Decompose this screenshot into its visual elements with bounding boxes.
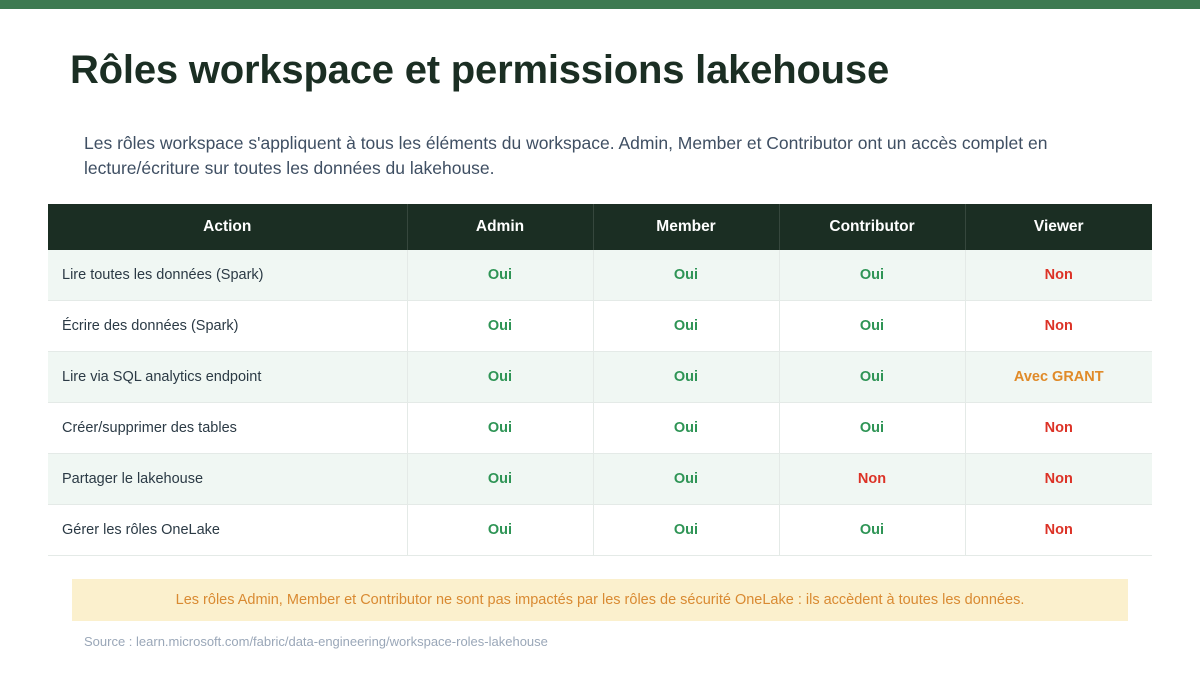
column-header-action: Action [48, 204, 407, 250]
cell-member: Oui [593, 301, 779, 352]
cell-member: Oui [593, 352, 779, 403]
table-row: Lire via SQL analytics endpoint Oui Oui … [48, 352, 1152, 403]
cell-member: Oui [593, 505, 779, 556]
slide-subtitle: Les rôles workspace s'appliquent à tous … [84, 131, 1094, 181]
cell-admin: Oui [407, 352, 593, 403]
top-accent-bar [0, 0, 1200, 9]
cell-admin: Oui [407, 403, 593, 454]
cell-member: Oui [593, 454, 779, 505]
cell-contributor: Oui [779, 352, 965, 403]
cell-viewer: Non [965, 454, 1152, 505]
column-header-contributor: Contributor [779, 204, 965, 250]
cell-contributor: Oui [779, 250, 965, 301]
slide-content: Rôles workspace et permissions lakehouse… [0, 9, 1200, 675]
cell-viewer: Avec GRANT [965, 352, 1152, 403]
cell-contributor: Oui [779, 505, 965, 556]
cell-action: Écrire des données (Spark) [48, 301, 407, 352]
column-header-member: Member [593, 204, 779, 250]
cell-action: Lire via SQL analytics endpoint [48, 352, 407, 403]
permissions-table: Action Admin Member Contributor Viewer L… [48, 204, 1152, 556]
note-text: Les rôles Admin, Member et Contributor n… [176, 591, 1025, 610]
page-title: Rôles workspace et permissions lakehouse [70, 47, 1130, 93]
table-row: Écrire des données (Spark) Oui Oui Oui N… [48, 301, 1152, 352]
cell-member: Oui [593, 403, 779, 454]
table-header: Action Admin Member Contributor Viewer [48, 204, 1152, 250]
cell-admin: Oui [407, 505, 593, 556]
table-body: Lire toutes les données (Spark) Oui Oui … [48, 250, 1152, 556]
source-citation: Source : learn.microsoft.com/fabric/data… [84, 634, 548, 649]
cell-action: Créer/supprimer des tables [48, 403, 407, 454]
table-row: Créer/supprimer des tables Oui Oui Oui N… [48, 403, 1152, 454]
cell-action: Lire toutes les données (Spark) [48, 250, 407, 301]
cell-action: Gérer les rôles OneLake [48, 505, 407, 556]
column-header-admin: Admin [407, 204, 593, 250]
cell-admin: Oui [407, 250, 593, 301]
cell-contributor: Non [779, 454, 965, 505]
cell-member: Oui [593, 250, 779, 301]
table-header-row: Action Admin Member Contributor Viewer [48, 204, 1152, 250]
note-callout: Les rôles Admin, Member et Contributor n… [72, 579, 1128, 621]
cell-action: Partager le lakehouse [48, 454, 407, 505]
column-header-viewer: Viewer [965, 204, 1152, 250]
cell-contributor: Oui [779, 301, 965, 352]
cell-contributor: Oui [779, 403, 965, 454]
cell-admin: Oui [407, 301, 593, 352]
table-row: Partager le lakehouse Oui Oui Non Non [48, 454, 1152, 505]
cell-viewer: Non [965, 403, 1152, 454]
cell-viewer: Non [965, 505, 1152, 556]
table-row: Lire toutes les données (Spark) Oui Oui … [48, 250, 1152, 301]
table-row: Gérer les rôles OneLake Oui Oui Oui Non [48, 505, 1152, 556]
cell-viewer: Non [965, 301, 1152, 352]
cell-admin: Oui [407, 454, 593, 505]
cell-viewer: Non [965, 250, 1152, 301]
